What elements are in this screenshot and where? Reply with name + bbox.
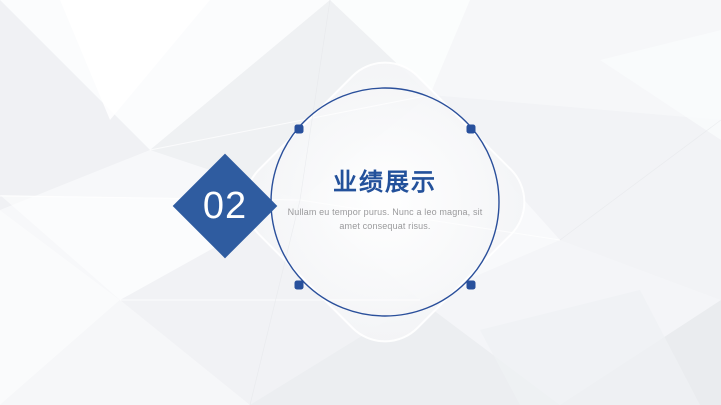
section-number-label: 02 xyxy=(172,176,278,236)
ring-dot-bottom-left xyxy=(295,281,304,290)
slide-canvas: 02 业绩展示 Nullam eu tempor purus. Nunc a l… xyxy=(0,0,721,405)
page-subtitle: Nullam eu tempor purus. Nunc a leo magna… xyxy=(285,206,485,234)
ring-dot-top-left xyxy=(295,125,304,134)
ring-dot-bottom-right xyxy=(467,281,476,290)
ring-dot-top-right xyxy=(467,125,476,134)
section-heading-block: 业绩展示 Nullam eu tempor purus. Nunc a leo … xyxy=(285,168,485,234)
page-title: 业绩展示 xyxy=(285,168,485,197)
